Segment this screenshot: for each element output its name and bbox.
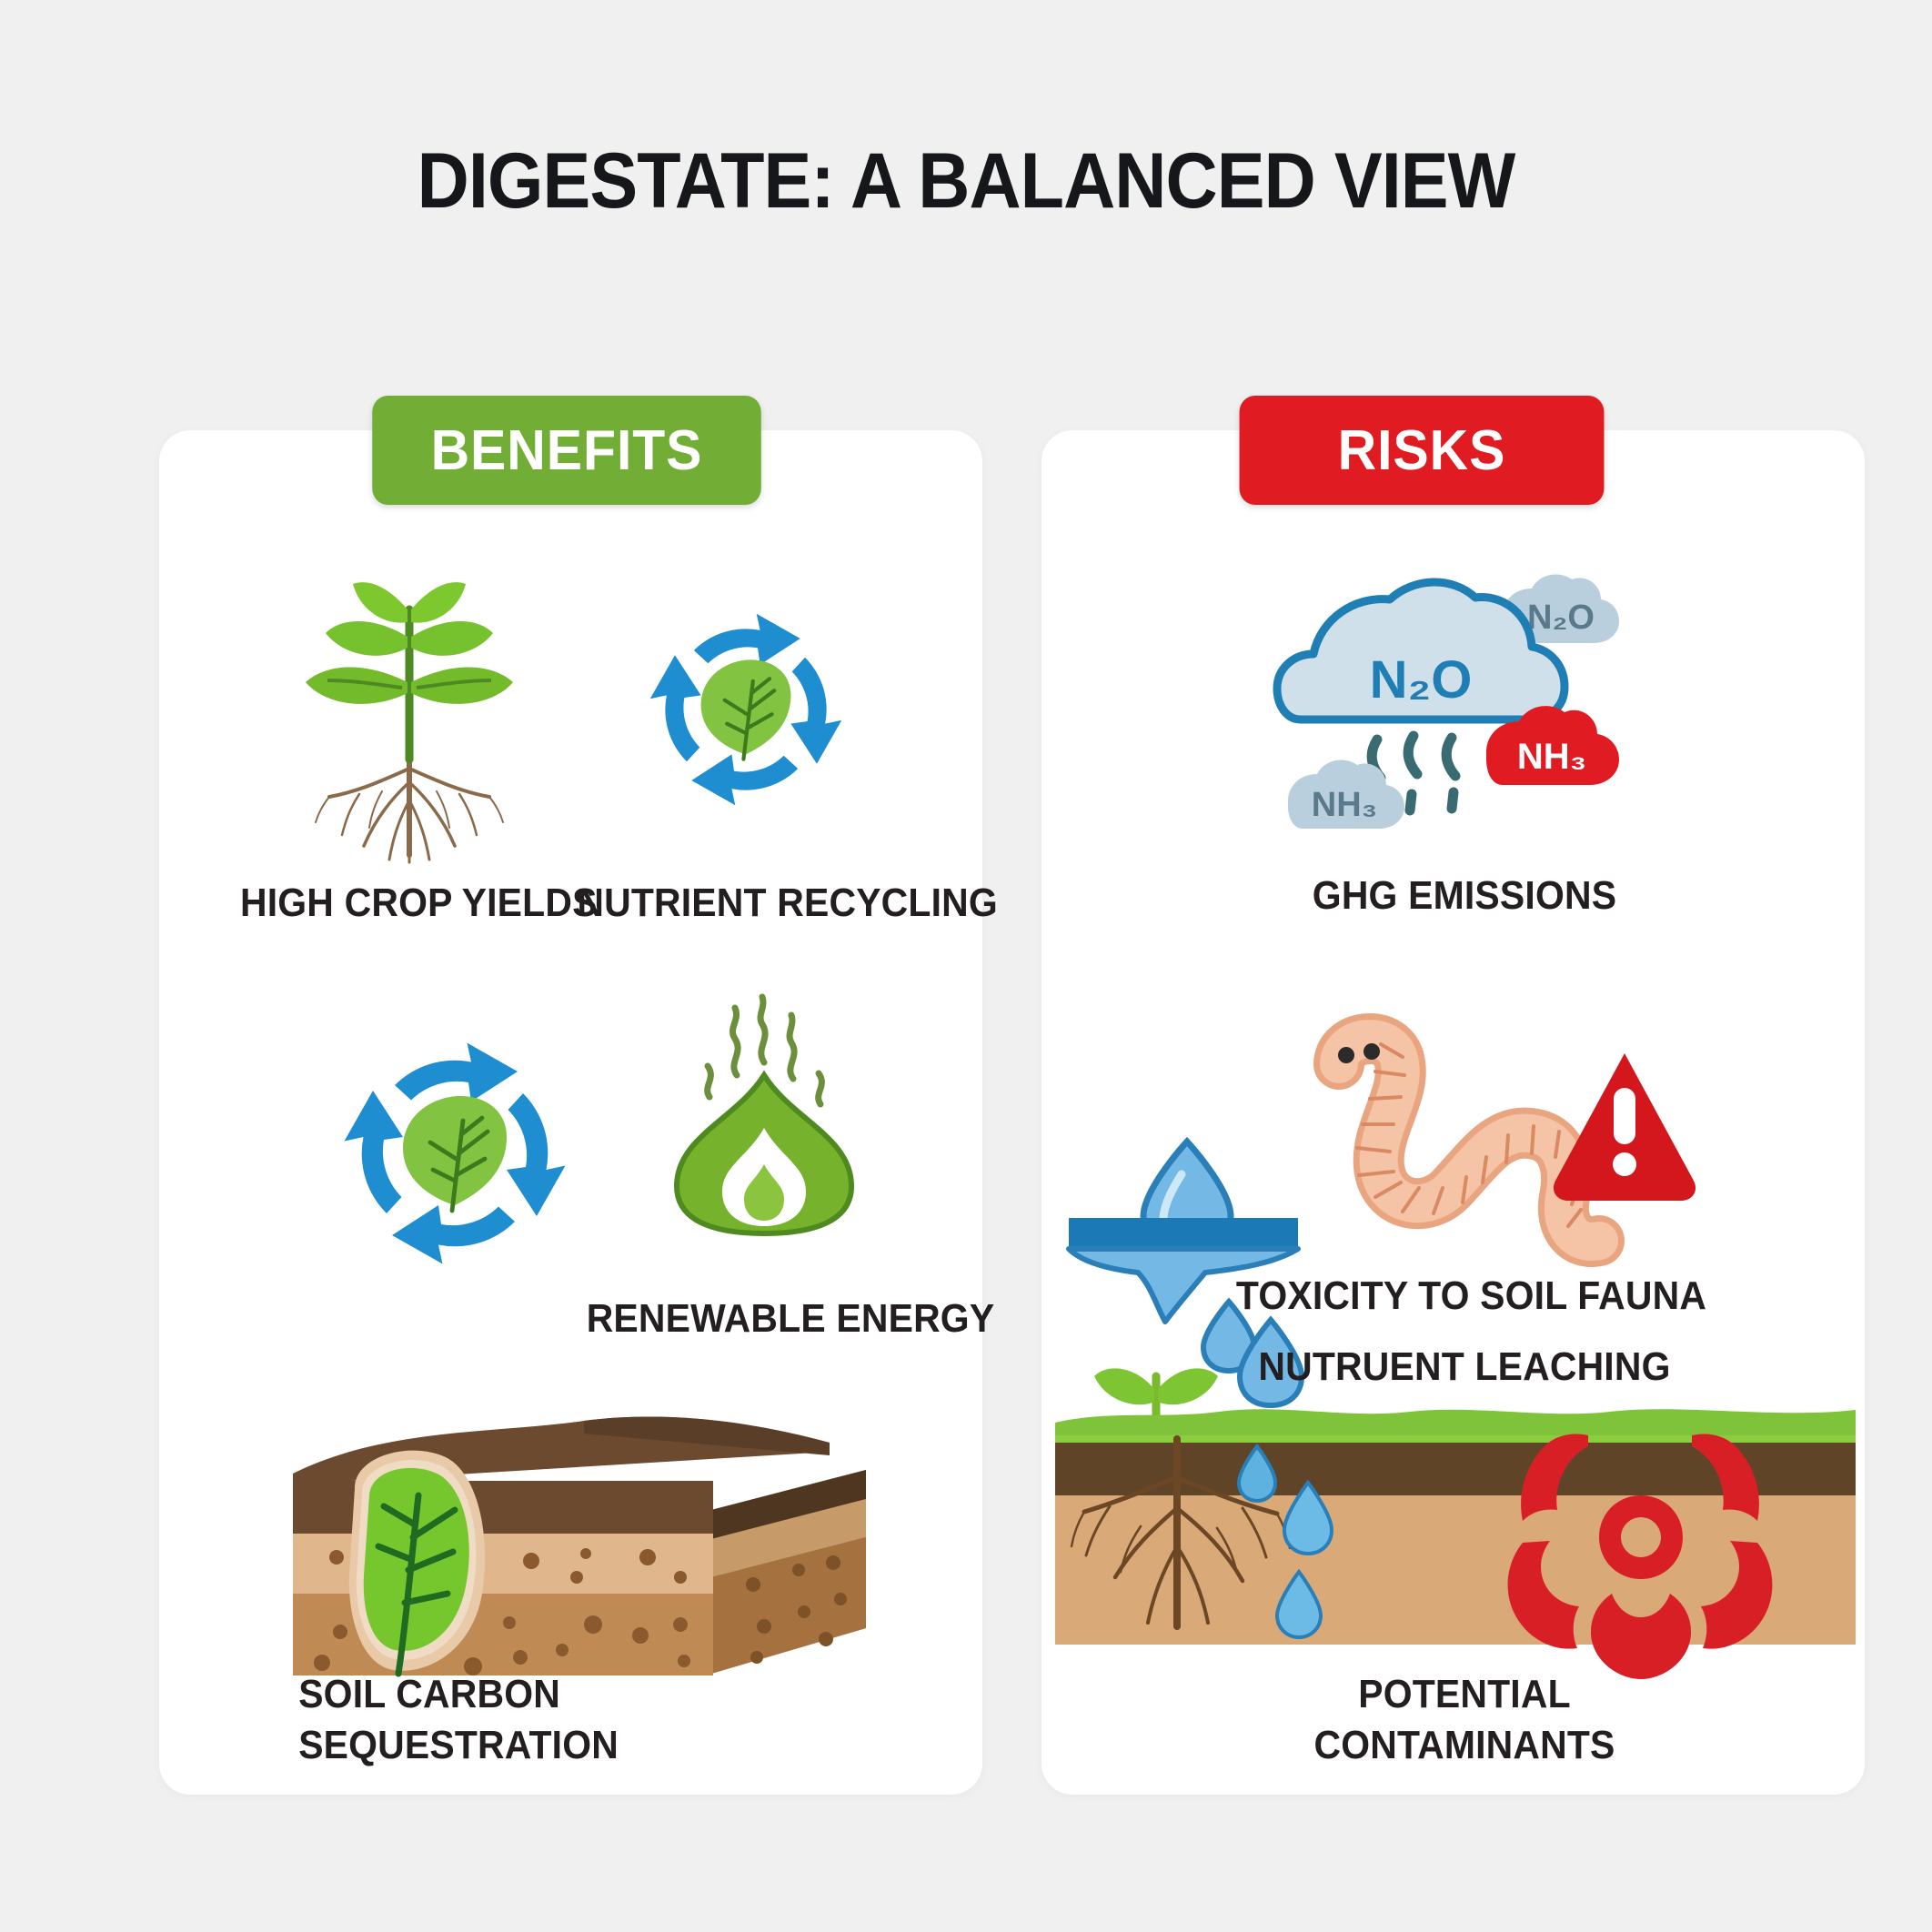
svg-text:N₂O: N₂O bbox=[1370, 650, 1473, 709]
label-nutrient-recycling: NUTRIENT RECYCLING bbox=[577, 880, 923, 925]
infographic-canvas: DIGESTATE: A BALANCED VIEW BENEFITS bbox=[0, 0, 1932, 1932]
svg-text:NH₃: NH₃ bbox=[1517, 737, 1586, 777]
biogas-flame-icon bbox=[637, 991, 891, 1264]
risks-badge-label: RISKS bbox=[1338, 418, 1506, 483]
label-soil-carbon-sequestration-line2: SEQUESTRATION bbox=[298, 1723, 739, 1767]
emission-cloud-icon: N₂O N₂O NH₃ NH₃ bbox=[1273, 559, 1655, 860]
biohazard-soil-icon bbox=[1055, 1399, 1856, 1654]
seedling-with-roots-icon bbox=[273, 573, 546, 873]
label-nutruent-leaching: NUTRUENT LEACHING bbox=[1253, 1344, 1676, 1389]
svg-text:N₂O: N₂O bbox=[1527, 599, 1595, 637]
benefits-badge-label: BENEFITS bbox=[431, 418, 703, 483]
svg-text:NH₃: NH₃ bbox=[1312, 786, 1377, 824]
benefits-badge[interactable]: BENEFITS bbox=[372, 396, 761, 505]
label-high-crop-yields: HIGH CROP YIELDS bbox=[240, 880, 579, 925]
label-potential-contaminants-line2: CONTAMINANTS bbox=[1262, 1723, 1667, 1767]
soil-block-leaf-icon bbox=[284, 1401, 875, 1701]
label-potential-contaminants-line1: POTENTIAL bbox=[1287, 1672, 1643, 1716]
recycling-leaf-icon bbox=[318, 1017, 591, 1290]
label-soil-carbon-sequestration-line1: SOIL CARBON bbox=[298, 1672, 739, 1716]
recycling-leaf-icon bbox=[628, 591, 864, 828]
label-renewable-energy: RENEWABLE ENERGY bbox=[587, 1296, 942, 1341]
page-title: DIGESTATE: A BALANCED VIEW bbox=[77, 136, 1855, 226]
label-ghg-emissions: GHG EMISSIONS bbox=[1287, 873, 1643, 918]
risks-badge[interactable]: RISKS bbox=[1240, 396, 1605, 505]
earthworm-warning-icon bbox=[1292, 1019, 1728, 1292]
